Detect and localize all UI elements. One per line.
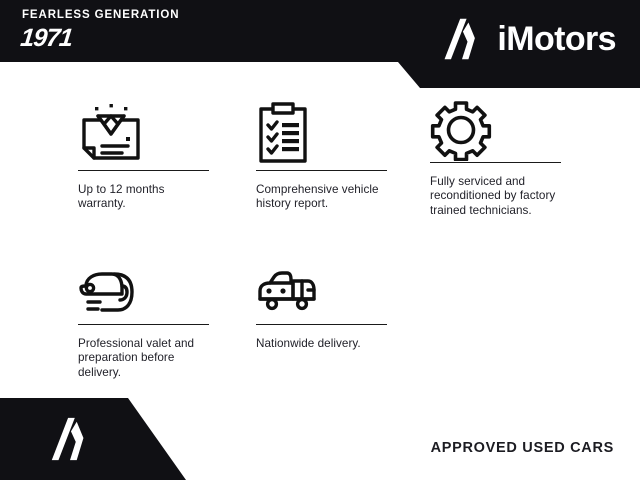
feature-divider xyxy=(78,170,209,171)
imotors-chevron-mark-icon xyxy=(439,16,485,62)
feature-divider xyxy=(78,324,209,325)
promo-banner: FEARLESS GENERATION 1971 iMotors xyxy=(0,0,640,480)
feature-delivery: Nationwide delivery. xyxy=(256,258,388,351)
feature-divider xyxy=(430,162,561,163)
gear-cog-icon xyxy=(430,99,492,161)
truck-icon-container xyxy=(256,258,388,324)
feature-caption: Professional valet and preparation befor… xyxy=(78,337,210,380)
clipboard-checklist-icon xyxy=(256,101,310,165)
footer-imotors-chevron-mark-icon xyxy=(46,415,94,463)
header-bar: FEARLESS GENERATION 1971 iMotors xyxy=(0,0,640,88)
feature-warranty: Up to 12 months warranty. xyxy=(78,96,210,212)
gear-icon-container xyxy=(430,96,562,164)
warranty-certificate-diamond-icon xyxy=(78,102,144,164)
vacuum-cleaner-icon xyxy=(78,264,140,318)
features-row-2: Professional valet and preparation befor… xyxy=(0,258,640,368)
feature-caption: Up to 12 months warranty. xyxy=(78,183,210,212)
feature-caption: Comprehensive vehicle history report. xyxy=(256,183,388,212)
feature-divider xyxy=(256,170,387,171)
feature-divider xyxy=(256,324,387,325)
fearless-generation-logo: FEARLESS GENERATION 1971 xyxy=(22,8,252,52)
footer-angled-shape xyxy=(0,398,190,480)
features-grid: Up to 12 months warranty. xyxy=(0,96,640,368)
approved-used-cars-label: APPROVED USED CARS xyxy=(431,440,614,456)
header-tagline: FEARLESS GENERATION xyxy=(22,8,252,22)
vacuum-icon-container xyxy=(78,258,210,324)
feature-caption: Nationwide delivery. xyxy=(256,337,388,351)
imotors-logo: iMotors xyxy=(439,16,616,62)
warranty-icon-container xyxy=(78,96,210,170)
feature-valet: Professional valet and preparation befor… xyxy=(78,258,210,380)
features-row-1: Up to 12 months warranty. xyxy=(0,96,640,248)
header-year: 1971 xyxy=(19,24,252,52)
checklist-icon-container xyxy=(256,96,388,170)
car-transporter-truck-icon xyxy=(256,269,318,313)
feature-caption: Fully serviced and reconditioned by fact… xyxy=(430,175,562,218)
imotors-wordmark: iMotors xyxy=(497,21,616,57)
feature-servicing: Fully serviced and reconditioned by fact… xyxy=(430,96,562,218)
feature-history-report: Comprehensive vehicle history report. xyxy=(256,96,388,212)
